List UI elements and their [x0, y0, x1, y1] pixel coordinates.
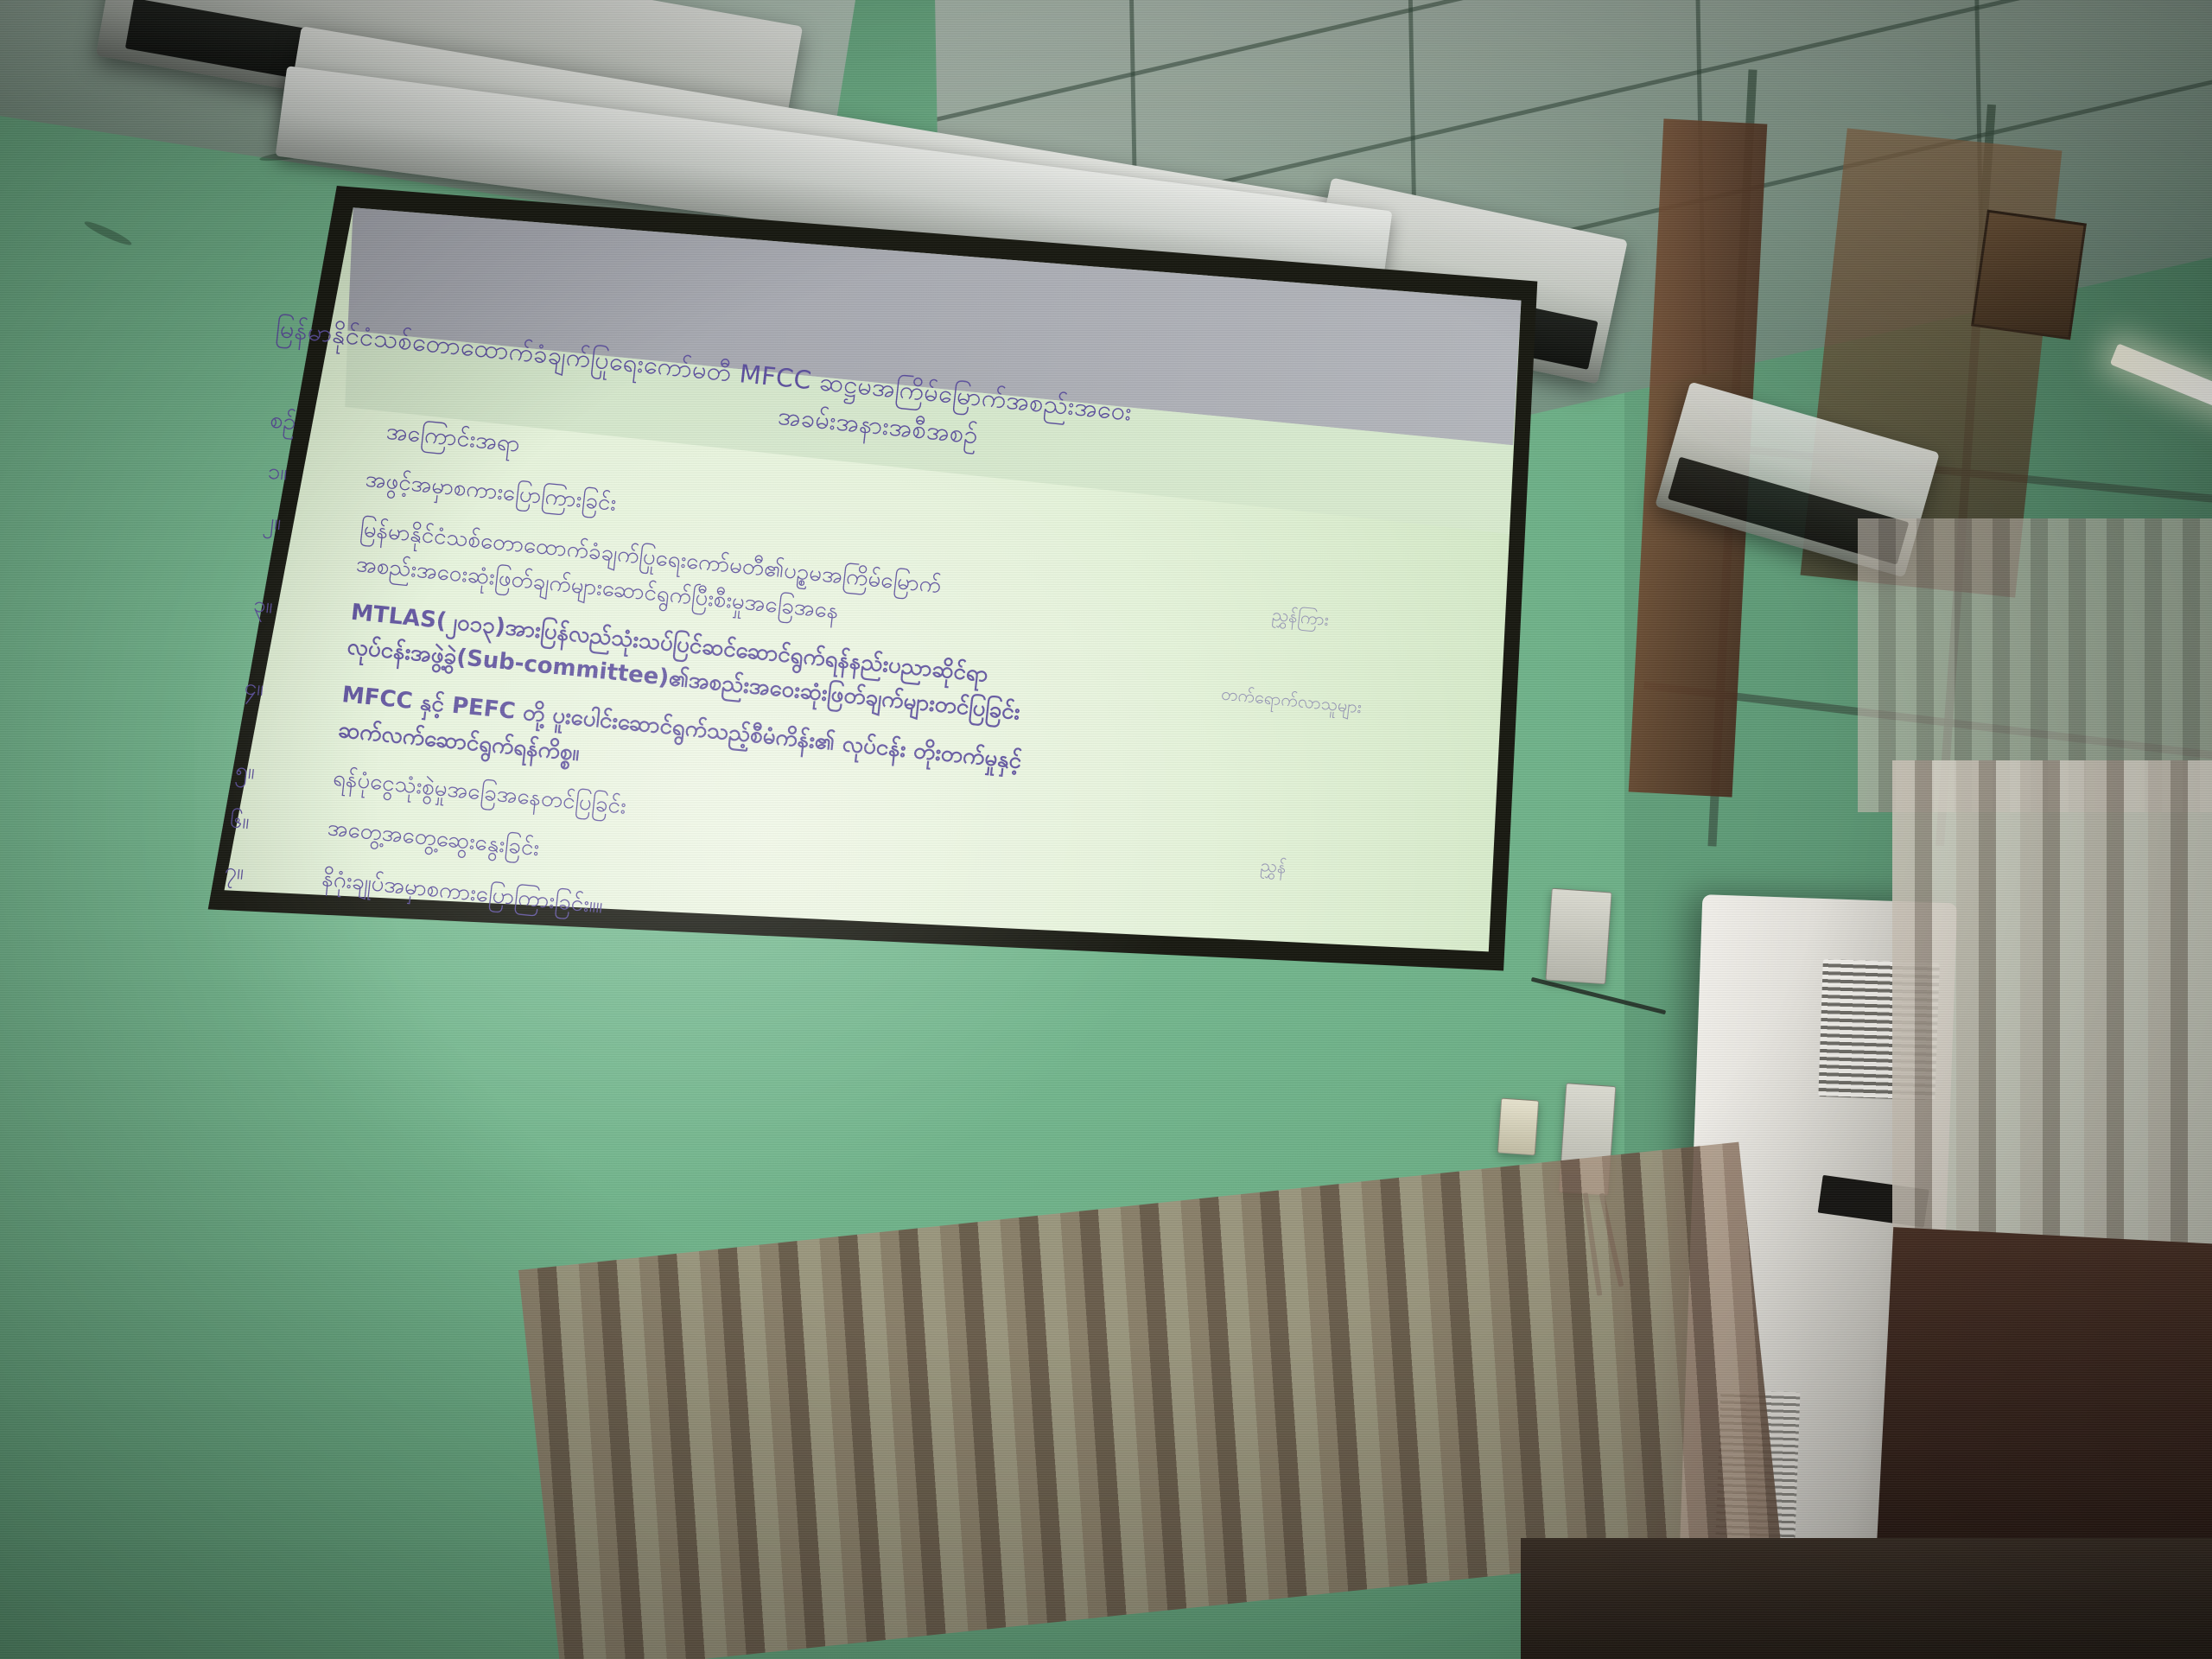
- agenda-row-number: ၁။: [224, 448, 331, 495]
- agenda-row-text-line1: အတွေ့အတွေ့ဆွေးနွေးခြင်း: [327, 816, 541, 862]
- wall-switch-panel[interactable]: [1545, 888, 1611, 985]
- floor-shadow-base: [1521, 1538, 2212, 1659]
- agenda-row-remark: ညွှန်ကြား: [1192, 594, 1409, 641]
- table-header-remark: [1175, 494, 1402, 550]
- room-photo-scene: မြန်မာနိုင်ငံသစ်တောထောက်ခံချက်ပြုရေးကော်…: [0, 0, 2212, 1659]
- agenda-row-text-line1: အဖွင့်အမှာစကားပြောကြားခြင်း: [364, 467, 617, 517]
- agenda-row-text-line1: နိဂုံးချုပ်အမှာစကားပြောကြားခြင်း။။: [321, 866, 604, 919]
- agenda-row-number: ၆။: [186, 798, 293, 844]
- slide-content: မြန်မာနိုင်ငံသစ်တောထောက်ခံချက်ပြုရေးကော်…: [168, 281, 1467, 1122]
- agenda-row-number: ၇။: [181, 848, 288, 894]
- table-header-no: စဉ်: [230, 401, 337, 445]
- agenda-row-remark: ညွှန်: [1165, 842, 1382, 890]
- agenda-row-text-line1: ရန်ပုံငွေသုံးစွဲမှုအခြေအနေတင်ပြခြင်း: [332, 766, 627, 820]
- picture-frame: [1971, 210, 2087, 340]
- agenda-row-number: ၅။: [192, 747, 299, 794]
- agenda-row-number: ၃။: [210, 582, 317, 628]
- agenda-row-remark: တက်ရောက်လာသူများ: [1183, 677, 1401, 724]
- agenda-row-number: ၄။: [200, 664, 308, 711]
- agenda-row-number: ၂။: [219, 499, 326, 545]
